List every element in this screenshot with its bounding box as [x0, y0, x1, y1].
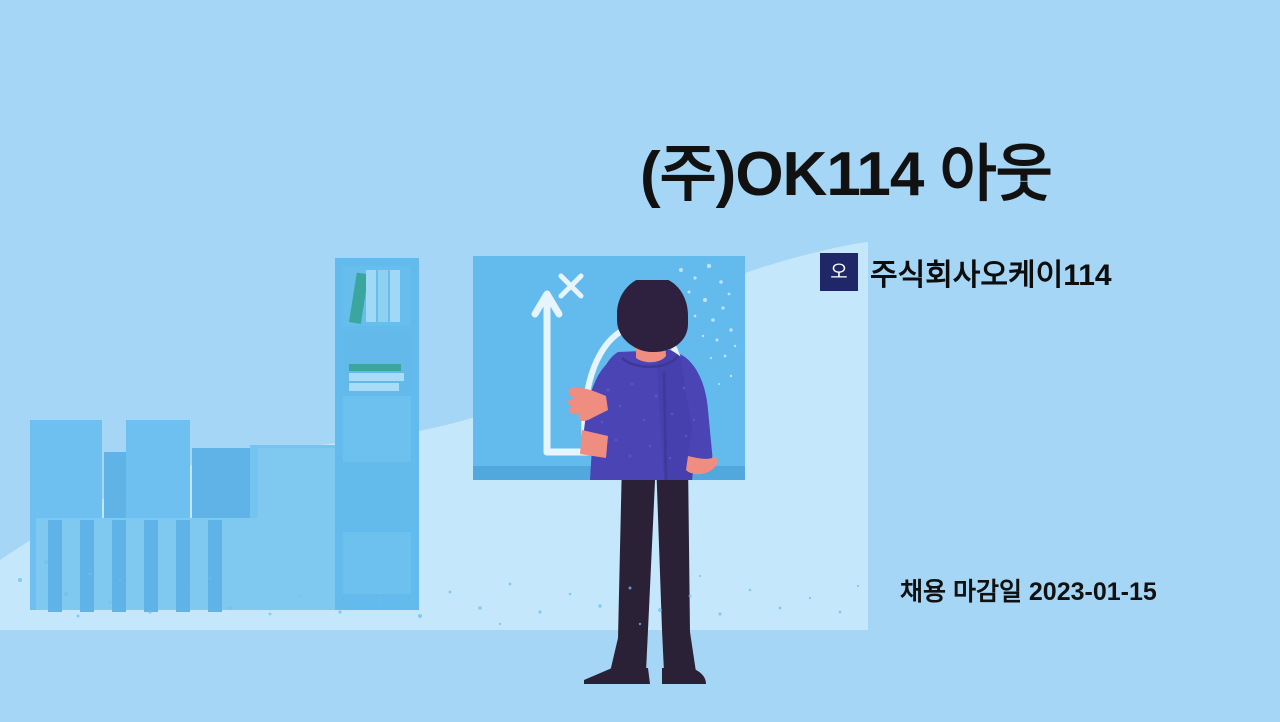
- book-1: [366, 270, 376, 322]
- building-column-4: [144, 520, 158, 612]
- bookshelf-shelf-5: [343, 532, 411, 594]
- building-column-6: [208, 520, 222, 612]
- deadline-text: 채용 마감일 2023-01-15: [900, 572, 1157, 608]
- book-stacked-3: [349, 383, 399, 391]
- book-2: [378, 270, 388, 322]
- illustration-artwork: [0, 0, 868, 722]
- book-3: [390, 270, 400, 322]
- poster-canvas: (주)OK114 아웃 오 주식회사오케이114 채용 마감일 2023-01-…: [0, 0, 1280, 722]
- company-name: 주식회사오케이114: [870, 250, 1112, 294]
- bookshelf-shelf-4: [343, 466, 411, 528]
- page-title: (주)OK114 아웃: [640, 141, 1240, 209]
- bookshelf-shelf-3: [343, 396, 411, 462]
- person-figure: [560, 280, 760, 700]
- company-row: 오 주식회사오케이114: [820, 250, 1112, 294]
- building-column-1: [48, 520, 62, 612]
- building-column-2: [80, 520, 94, 612]
- book-stacked-1: [349, 364, 401, 371]
- building-column-3: [112, 520, 126, 612]
- company-logo-icon: 오: [820, 253, 858, 291]
- building-column-5: [176, 520, 190, 612]
- book-stacked-2: [349, 373, 404, 381]
